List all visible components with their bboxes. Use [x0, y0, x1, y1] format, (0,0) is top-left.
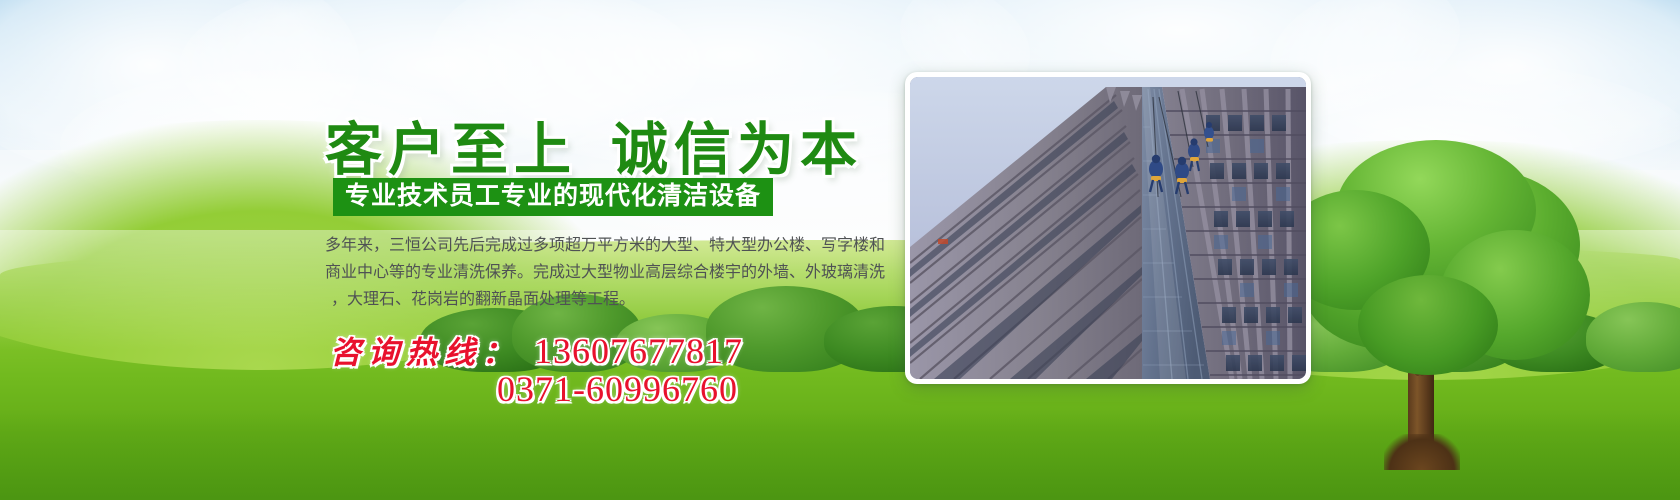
hotline-label: 咨询热线： [330, 327, 520, 372]
subtitle-bar: 专业技术员工专业的现代化清洁设备 [333, 178, 773, 216]
headline-part-2: 诚信为本 [611, 119, 863, 182]
description-line-1: 多年来，三恒公司先后完成过多项超万平方米的大型、特大型办公楼、写字楼和 [325, 232, 895, 259]
subtitle-bar-text: 专业技术员工专业的现代化清洁设备 [345, 184, 761, 209]
hotline-phone-landline[interactable]: 0371-60996760 [497, 368, 738, 410]
hotline-row: 咨询热线： 13607677817 [330, 327, 743, 372]
photo-card[interactable] [905, 72, 1311, 384]
hotline-phone-mobile[interactable]: 13607677817 [534, 330, 743, 372]
description-paragraph: 多年来，三恒公司先后完成过多项超万平方米的大型、特大型办公楼、写字楼和 商业中心… [325, 232, 895, 313]
description-line-3: ，大理石、花岗岩的翻新晶面处理等工程。 [325, 286, 895, 313]
headline-part-1: 客户至上 [325, 119, 577, 182]
building-photo [910, 77, 1306, 379]
description-line-2: 商业中心等的专业清洗保养。完成过大型物业高层综合楼宇的外墙、外玻璃清洗 [325, 259, 895, 286]
building-photo-illustration [910, 77, 1306, 379]
headline: 客户至上诚信为本 [325, 104, 863, 186]
promo-banner: 客户至上诚信为本 专业技术员工专业的现代化清洁设备 多年来，三恒公司先后完成过多… [0, 0, 1680, 500]
banner-content: 客户至上诚信为本 专业技术员工专业的现代化清洁设备 多年来，三恒公司先后完成过多… [0, 0, 900, 500]
